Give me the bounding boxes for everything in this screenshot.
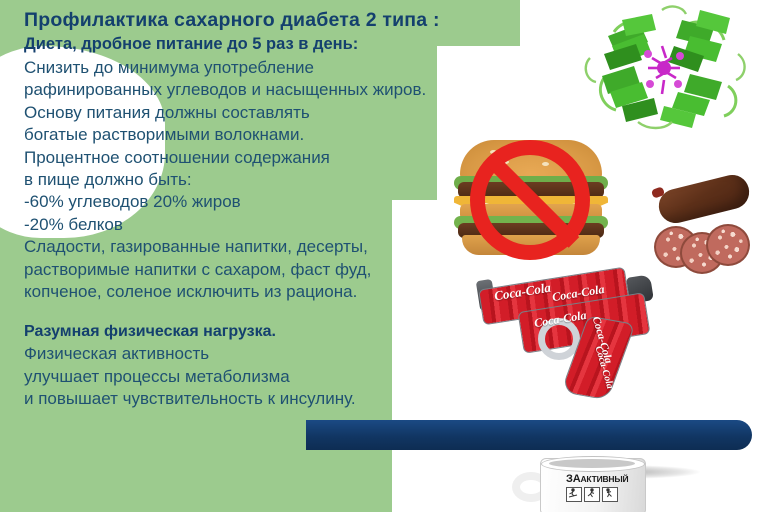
salami-sausage-icon bbox=[650, 180, 758, 280]
diet-subtitle: Диета, дробное питание до 5 раз в день: bbox=[24, 34, 544, 55]
diet-line: Снизить до минимума употребление bbox=[24, 57, 544, 79]
slide-text-block: Профилактика сахарного диабета 2 типа : … bbox=[24, 8, 544, 411]
diet-line: -60% углеводов 20% жиров bbox=[24, 191, 544, 213]
mug-pictograms bbox=[566, 487, 638, 502]
diet-line: рафинированных углеводов и насыщенных жи… bbox=[24, 79, 544, 101]
diet-line: Основу питания должны составлять bbox=[24, 102, 544, 124]
pictogram-runner-icon bbox=[584, 487, 600, 502]
activity-line: улучшает процессы метаболизма bbox=[24, 366, 544, 388]
diet-line: в пище должно быть: bbox=[24, 169, 544, 191]
diet-line: Сладости, газированные напитки, десерты, bbox=[24, 236, 544, 258]
mug-label-prefix: ЗА bbox=[566, 473, 580, 485]
diet-line: -20% белков bbox=[24, 214, 544, 236]
mug-label-suffix: АКТИВНЫЙ bbox=[580, 474, 628, 484]
page-title: Профилактика сахарного диабета 2 типа : bbox=[24, 8, 544, 32]
insulin-protein-ribbon-structure-icon bbox=[578, 2, 756, 134]
pictogram-skier-icon bbox=[566, 487, 582, 502]
mug-za-aktivnyy-icon: ЗААКТИВНЫЙ bbox=[508, 454, 664, 512]
pictogram-athlete-icon bbox=[602, 487, 618, 502]
diet-line: растворимые напитки с сахаром, фаст фуд, bbox=[24, 259, 544, 281]
activity-heading: Разумная физическая нагрузка. bbox=[24, 321, 544, 343]
navy-accent-bar bbox=[306, 420, 752, 450]
text-spacer bbox=[24, 304, 544, 321]
mug-label-text: ЗААКТИВНЫЙ bbox=[566, 474, 638, 485]
activity-line: Физическая активность bbox=[24, 343, 544, 365]
diet-line: копченое, соленое исключить из рациона. bbox=[24, 281, 544, 303]
diet-line: Процентное соотношении содержания bbox=[24, 147, 544, 169]
slide-canvas: Coca-Cola Coca-Cola Coca-Cola Coca-Cola … bbox=[0, 0, 764, 512]
diet-line: богатые растворимыми волокнами. bbox=[24, 124, 544, 146]
activity-line: и повышает чувствительность к инсулину. bbox=[24, 388, 544, 410]
